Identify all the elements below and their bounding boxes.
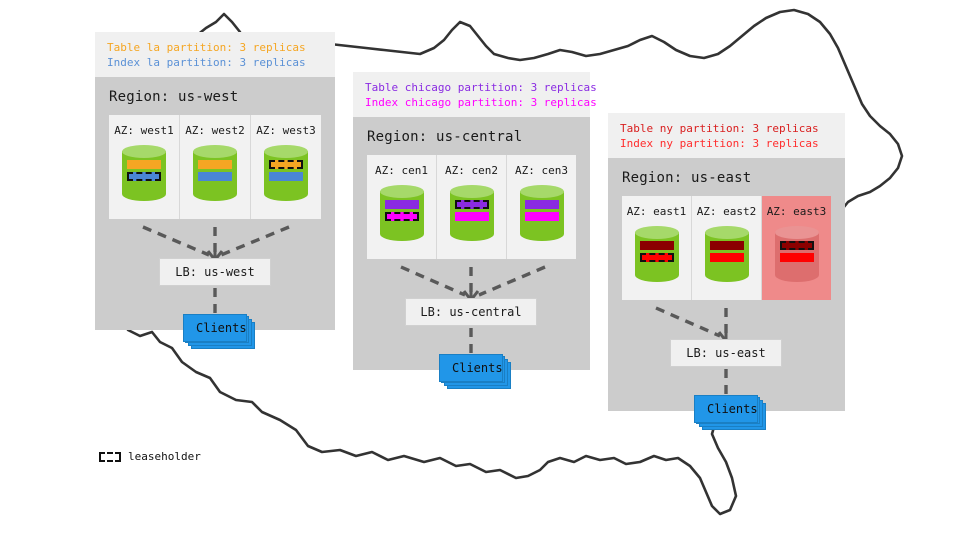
az-label-west2: AZ: west2 <box>180 124 250 137</box>
node-cylinder-cen1[interactable] <box>380 185 424 247</box>
clients-stack-us-west[interactable]: Clients <box>183 314 247 342</box>
table-replica-bar <box>640 241 674 250</box>
cylinder-top <box>520 185 564 198</box>
region-title-us-central: Region: us-central <box>353 117 590 155</box>
index-replica-bar <box>455 212 489 221</box>
table-replica-bar-leaseholder <box>455 200 489 209</box>
az-cell-west1[interactable]: AZ: west1 <box>109 115 180 219</box>
node-cylinder-west1[interactable] <box>122 145 166 207</box>
index-replica-bar <box>525 212 559 221</box>
region-panel-us-east: Table ny partition: 3 replicas Index ny … <box>608 113 845 411</box>
region-body-us-east: Region: us-east AZ: east1 AZ: east2 <box>608 158 845 411</box>
az-label-west1: AZ: west1 <box>109 124 179 137</box>
replica-bars-cen3 <box>525 200 559 224</box>
node-cylinder-east3[interactable] <box>775 226 819 288</box>
index-replica-bar-leaseholder <box>640 253 674 262</box>
table-replica-bar <box>385 200 419 209</box>
index-replica-bar <box>269 172 303 181</box>
az-label-east2: AZ: east2 <box>692 205 761 218</box>
region-panel-us-west: Table la partition: 3 replicas Index la … <box>95 32 335 330</box>
az-label-west3: AZ: west3 <box>251 124 321 137</box>
table-replica-bar-leaseholder <box>269 160 303 169</box>
replica-bars-east3 <box>780 241 814 265</box>
region-body-us-west: Region: us-west AZ: west1 AZ: west2 <box>95 77 335 330</box>
index-replica-bar-leaseholder <box>127 172 161 181</box>
az-cell-cen1[interactable]: AZ: cen1 <box>367 155 437 259</box>
table-replica-bar-leaseholder <box>780 241 814 250</box>
partition-line-table: Table la partition: 3 replicas <box>107 40 323 55</box>
cylinder-top <box>122 145 166 158</box>
node-cylinder-cen2[interactable] <box>450 185 494 247</box>
node-cylinder-cen3[interactable] <box>520 185 564 247</box>
index-replica-bar-leaseholder <box>385 212 419 221</box>
legend-label: leaseholder <box>128 450 201 463</box>
lb-box-us-east[interactable]: LB: us-east <box>670 339 782 367</box>
az-label-cen2: AZ: cen2 <box>437 164 506 177</box>
lb-box-us-central[interactable]: LB: us-central <box>405 298 537 326</box>
cylinder-top <box>635 226 679 239</box>
legend: leaseholder <box>99 450 201 463</box>
dashed-rect-icon <box>99 452 121 462</box>
partition-line-index: Index chicago partition: 3 replicas <box>365 95 578 110</box>
replica-bars-west3 <box>269 160 303 184</box>
replica-bars-cen2 <box>455 200 489 224</box>
cylinder-top <box>264 145 308 158</box>
partition-line-table: Table ny partition: 3 replicas <box>620 121 833 136</box>
partition-line-index: Index ny partition: 3 replicas <box>620 136 833 151</box>
cylinder-top <box>705 226 749 239</box>
az-cell-west2[interactable]: AZ: west2 <box>180 115 251 219</box>
az-cell-west3[interactable]: AZ: west3 <box>251 115 321 219</box>
replica-bars-west2 <box>198 160 232 184</box>
node-cylinder-east2[interactable] <box>705 226 749 288</box>
cylinder-top <box>450 185 494 198</box>
az-strip-us-east: AZ: east1 AZ: east2 <box>622 196 831 300</box>
clients-label-us-east[interactable]: Clients <box>694 395 758 423</box>
clients-label-us-central[interactable]: Clients <box>439 354 503 382</box>
table-replica-bar <box>127 160 161 169</box>
node-cylinder-west2[interactable] <box>193 145 237 207</box>
az-label-cen1: AZ: cen1 <box>367 164 436 177</box>
index-replica-bar <box>198 172 232 181</box>
cylinder-top <box>380 185 424 198</box>
node-cylinder-east1[interactable] <box>635 226 679 288</box>
region-panel-us-central: Table chicago partition: 3 replicas Inde… <box>353 72 590 370</box>
table-replica-bar <box>198 160 232 169</box>
az-cell-east2[interactable]: AZ: east2 <box>692 196 762 300</box>
clients-stack-us-east[interactable]: Clients <box>694 395 758 423</box>
replica-bars-east2 <box>710 241 744 265</box>
az-label-east3: AZ: east3 <box>762 205 831 218</box>
cylinder-top <box>775 226 819 239</box>
index-replica-bar <box>710 253 744 262</box>
az-label-cen3: AZ: cen3 <box>507 164 576 177</box>
region-body-us-central: Region: us-central AZ: cen1 AZ: cen2 <box>353 117 590 370</box>
replica-bars-east1 <box>640 241 674 265</box>
az-cell-cen3[interactable]: AZ: cen3 <box>507 155 576 259</box>
partition-header-us-west: Table la partition: 3 replicas Index la … <box>95 32 335 77</box>
index-replica-bar <box>780 253 814 262</box>
az-cell-east3-failed[interactable]: AZ: east3 <box>762 196 831 300</box>
cylinder-top <box>193 145 237 158</box>
node-cylinder-west3[interactable] <box>264 145 308 207</box>
diagram-canvas: Table la partition: 3 replicas Index la … <box>0 0 960 540</box>
partition-header-us-east: Table ny partition: 3 replicas Index ny … <box>608 113 845 158</box>
partition-line-index: Index la partition: 3 replicas <box>107 55 323 70</box>
replica-bars-cen1 <box>385 200 419 224</box>
az-label-east1: AZ: east1 <box>622 205 691 218</box>
table-replica-bar <box>710 241 744 250</box>
lb-box-us-west[interactable]: LB: us-west <box>159 258 271 286</box>
region-title-us-east: Region: us-east <box>608 158 845 196</box>
clients-label-us-west[interactable]: Clients <box>183 314 247 342</box>
az-strip-us-central: AZ: cen1 AZ: cen2 <box>367 155 576 259</box>
partition-header-us-central: Table chicago partition: 3 replicas Inde… <box>353 72 590 117</box>
clients-stack-us-central[interactable]: Clients <box>439 354 503 382</box>
az-cell-east1[interactable]: AZ: east1 <box>622 196 692 300</box>
partition-line-table: Table chicago partition: 3 replicas <box>365 80 578 95</box>
table-replica-bar <box>525 200 559 209</box>
replica-bars-west1 <box>127 160 161 184</box>
az-strip-us-west: AZ: west1 AZ: west2 <box>109 115 321 219</box>
az-cell-cen2[interactable]: AZ: cen2 <box>437 155 507 259</box>
region-title-us-west: Region: us-west <box>95 77 335 115</box>
